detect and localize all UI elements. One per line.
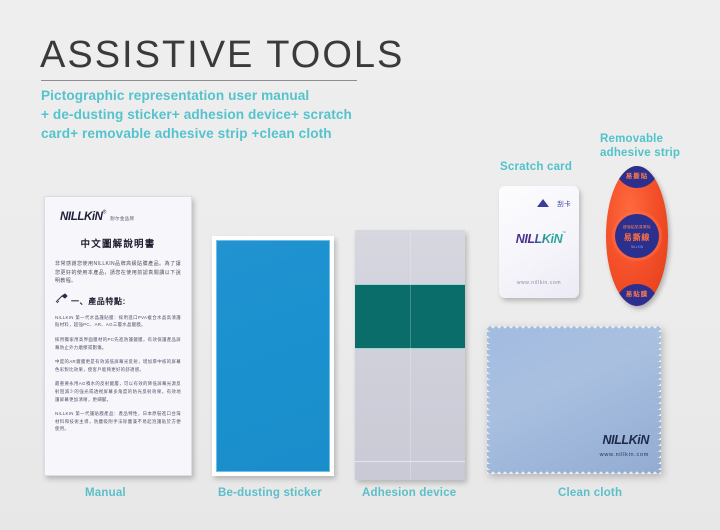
clean-cloth-edge-top — [487, 326, 661, 330]
manual-section-heading: 一、產品特點: — [71, 296, 181, 307]
manual-page-content: NILLKiN®耐尔金品牌 中文圖解說明書 非常感謝您使用NILLKIN品牌高級… — [55, 207, 181, 467]
adhesion-device-fold-line — [355, 461, 465, 462]
clean-cloth-edge-left — [487, 326, 491, 474]
de-dusting-sticker — [212, 236, 334, 476]
de-dusting-sticker-face — [216, 240, 330, 472]
manual-paragraph: 採用獨家用高界面膜材的PC先進防護鍍膜，有效保護產品屏幕防止外力磨擦或劃傷。 — [55, 336, 181, 351]
label-scratch-card: Scratch card — [500, 160, 572, 174]
label-removable-adhesive-strip: Removable adhesive strip — [600, 132, 680, 160]
page-subtitle: Pictographic representation user manual … — [41, 86, 391, 143]
manual-intro-paragraph: 非常感謝您使用NILLKIN品牌高級貼膜產品。為了讓您更好的使用本產品，請您在使… — [55, 260, 181, 286]
adhesive-strip-bottom-text: 易貼膜 — [615, 284, 659, 306]
triangle-icon — [537, 199, 549, 207]
scratch-card-cn-text: 刮卡 — [557, 198, 571, 208]
label-removable-adhesive-strip-line-1: Removable — [600, 132, 680, 146]
poster-canvas: ASSISTIVE TOOLS Pictographic representat… — [0, 0, 720, 530]
removable-adhesive-strip: 易撕貼 超強粘貼易撕除 易撕線 NILLKIN 易貼膜 — [606, 166, 668, 306]
subtitle-line-3: card+ removable adhesive strip +clean cl… — [41, 124, 391, 143]
manual-brand-tm: ® — [103, 210, 107, 216]
scratch-card: 刮卡 NILLKiN ™ www.nillkin.com — [499, 186, 579, 298]
adhesive-strip-center-seal: 超強粘貼易撕除 易撕線 NILLKIN — [615, 214, 659, 258]
tool-icon — [55, 293, 68, 304]
title-underline — [41, 80, 357, 81]
label-removable-adhesive-strip-line-2: adhesive strip — [600, 146, 680, 160]
scratch-card-brand: NILLKiN — [499, 232, 579, 246]
caption-adhesion-device: Adhesion device — [362, 487, 456, 499]
adhesion-device — [355, 230, 465, 480]
adhesive-strip-center-text: 易撕線 — [615, 232, 659, 243]
manual-paragraph: 中度的AR鍍膜更是有效減低屏幕光反射，增加厚中核的屏幕色彩對比效果，使客戶能夠更… — [55, 358, 181, 373]
adhesion-device-seam — [410, 230, 411, 480]
adhesive-strip-center-small-text: 超強粘貼易撕除 — [615, 225, 659, 230]
clean-cloth-edge-bottom — [487, 470, 661, 474]
caption-de-dusting-sticker: Be-dusting sticker — [218, 487, 322, 499]
caption-clean-cloth: Clean cloth — [558, 487, 622, 499]
product-manual: NILLKiN®耐尔金品牌 中文圖解說明書 非常感謝您使用NILLKIN品牌高級… — [44, 196, 192, 476]
clean-cloth-edge-right — [657, 326, 661, 474]
manual-brand-cn: 耐尔金品牌 — [110, 216, 134, 221]
manual-section-heading-text: 一、產品特點: — [71, 297, 126, 306]
scratch-card-url: www.nillkin.com — [499, 280, 579, 286]
subtitle-line-1: Pictographic representation user manual — [41, 86, 391, 105]
caption-manual: Manual — [85, 487, 126, 499]
clean-cloth: NILLKiN www.nillkin.com — [487, 326, 661, 474]
page-title: ASSISTIVE TOOLS — [40, 34, 404, 77]
manual-brand-text: NILLKiN — [60, 211, 103, 223]
manual-logo: NILLKiN®耐尔金品牌 — [55, 207, 181, 225]
clean-cloth-url: www.nillkin.com — [600, 452, 649, 458]
clean-cloth-brand: NILLKiN — [603, 433, 650, 447]
adhesive-strip-top-text: 易撕貼 — [615, 166, 659, 188]
manual-paragraph: 最重要永用AG噴水的反射鍍層，可以有效的降低屏幕光源反射阻減少的強光或透視屏幕多… — [55, 380, 181, 403]
manual-paragraph: NILLKIN 第一代護貼膜產品：產品特性，日本原裝進口台灣材料和技術主導，防塵… — [55, 410, 181, 433]
adhesive-strip-center-brand: NILLKIN — [615, 245, 659, 249]
manual-paragraph: NILLKIN 第一代水晶護貼膜：採用進口PVA複合水晶高清護貼材料，超強PC、… — [55, 314, 181, 329]
scratch-card-brand-tm: ™ — [562, 230, 566, 235]
manual-doc-title: 中文圖解說明書 — [55, 236, 181, 250]
subtitle-line-2: + de-dusting sticker+ adhesion device+ s… — [41, 105, 391, 124]
